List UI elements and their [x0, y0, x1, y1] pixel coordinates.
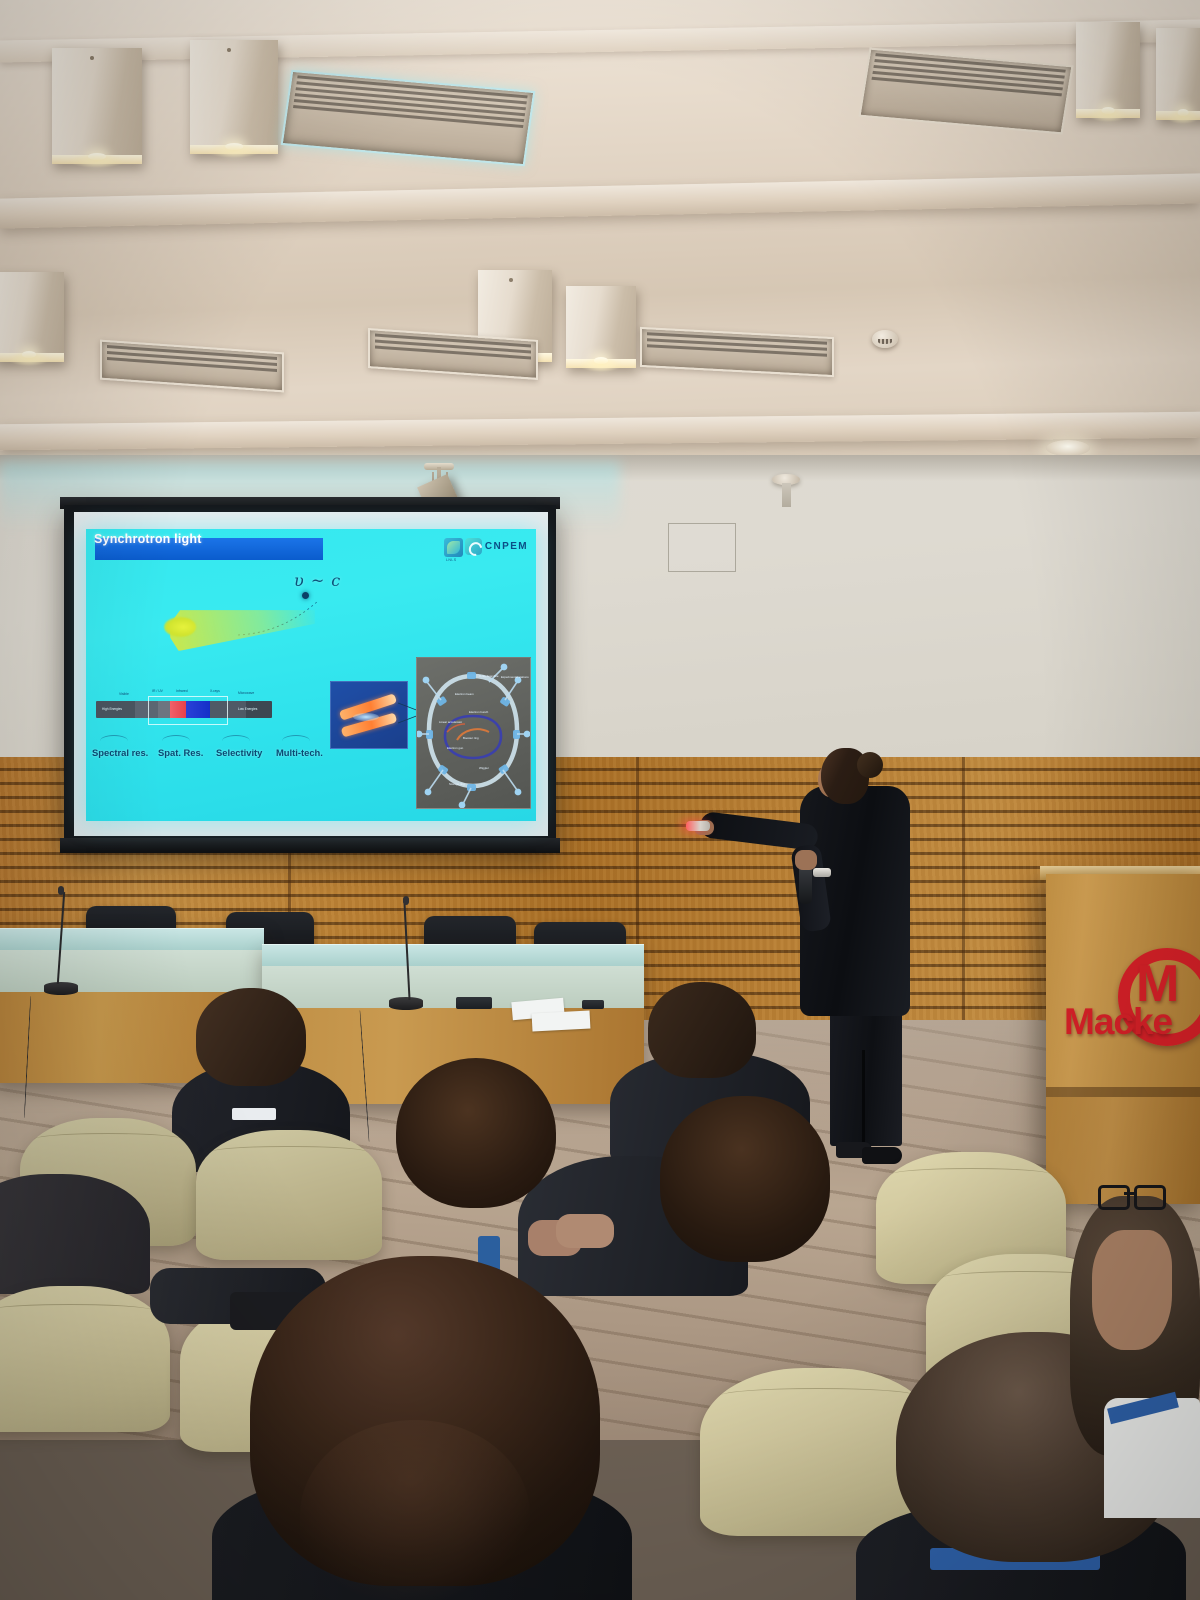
audience-long-hair-head [660, 1096, 830, 1262]
presenter-legs [830, 996, 902, 1146]
auditorium-seat[interactable] [196, 1130, 382, 1260]
audience-hand [556, 1214, 614, 1248]
lnls-logo: LNLS [444, 538, 463, 557]
ceiling-downlight-2 [190, 40, 278, 154]
microphone-head-right [403, 896, 409, 905]
slide-feature-label: Spat. Res. [158, 747, 203, 758]
foreground-hair-highlight [300, 1420, 530, 1600]
presenter-leg-seam [862, 1050, 865, 1146]
cnpem-mark-icon [465, 538, 482, 555]
slide-title: Synchrotron light [94, 532, 202, 546]
slide-feature-label: Selectivity [216, 747, 262, 758]
screen-bottom-bar [60, 838, 560, 853]
table-device[interactable] [456, 997, 492, 1009]
presenter-shoe [862, 1147, 902, 1164]
wristwatch-icon [813, 868, 831, 877]
presenter-mic-hand [795, 850, 817, 870]
light-cone-tip [164, 617, 196, 637]
ring-diagram-svg [417, 658, 530, 808]
ceiling-downlight-6 [1076, 22, 1140, 118]
spectrum-chip-right: Low Energies [238, 707, 257, 711]
slide-feature-label: Multi-tech. [276, 747, 323, 758]
lnls-logo-caption: LNLS [446, 558, 457, 562]
recessed-ceiling-light [1046, 440, 1090, 456]
ring-label: Storage ring [449, 782, 465, 786]
audience-shoulders [0, 1174, 150, 1294]
presenter-hair-bun [857, 752, 883, 778]
ceiling-downlight-5 [566, 286, 636, 368]
visible-range-highlight [148, 696, 228, 725]
spectrum-chip-left: High Energies [102, 707, 122, 711]
eyeglasses-icon [1098, 1185, 1160, 1207]
audience-shirt-collar [232, 1108, 276, 1120]
auditorium-seat[interactable] [0, 1286, 170, 1432]
ceiling-downlight-7 [1156, 28, 1200, 120]
ring-label: Experimental stations [501, 675, 529, 679]
wall-access-panel [668, 523, 736, 572]
smoke-detector-icon [872, 330, 898, 348]
handheld-microphone-icon[interactable] [799, 864, 812, 904]
mackenzie-logo-wordmark: Macke [1064, 1001, 1172, 1043]
paper-sheet[interactable] [532, 1010, 591, 1031]
projection-screen-surface: Synchrotron light LNLS CNPEM υ ~ c [74, 512, 548, 836]
cnpem-logo: CNPEM [465, 538, 528, 555]
spectrum-label: X-rays [210, 689, 220, 693]
audience-head [648, 982, 756, 1078]
ring-label: Electron bunch [469, 710, 488, 714]
ring-label: Electron gun [447, 746, 463, 750]
synchrotron-ring-diagram: X-ray beamline Experimental stations Ele… [416, 657, 531, 809]
microphone-base-left[interactable] [44, 982, 78, 995]
velocity-formula: υ ~ c [294, 571, 341, 590]
table-remote[interactable] [582, 1000, 604, 1009]
podium-trim [1046, 1087, 1200, 1097]
spectrum-label: Visible [119, 692, 129, 696]
laser-pointer-icon[interactable] [686, 821, 710, 831]
ring-label: Booster ring [463, 736, 479, 740]
spectrum-label: Microwave [238, 691, 254, 695]
lecture-hall-photo: Synchrotron light LNLS CNPEM υ ~ c [0, 0, 1200, 1600]
ring-label: X-ray beamline [479, 674, 498, 678]
ring-label: Wiggler [479, 766, 489, 770]
audience-face-right [1092, 1230, 1172, 1350]
slide-feature-label: Spectral res. [92, 747, 148, 758]
cnpem-logo-text: CNPEM [485, 541, 528, 552]
ring-label: Electron beam [455, 692, 474, 696]
audience-head [196, 988, 306, 1086]
microphone-base-right[interactable] [389, 997, 423, 1010]
spectrum-label: IR / UV [152, 689, 163, 693]
undulator-inset-image [330, 681, 408, 749]
microphone-head-left [58, 886, 64, 895]
ceiling-downlight-3 [0, 272, 64, 362]
speaker-stem [782, 483, 791, 507]
ceiling-downlight-1 [52, 48, 142, 164]
spectrum-label: Infrared [176, 689, 188, 693]
audience-curly-head [396, 1058, 556, 1208]
presentation-slide: Synchrotron light LNLS CNPEM υ ~ c [86, 529, 536, 821]
ring-label: Linear accelerator [439, 720, 462, 724]
